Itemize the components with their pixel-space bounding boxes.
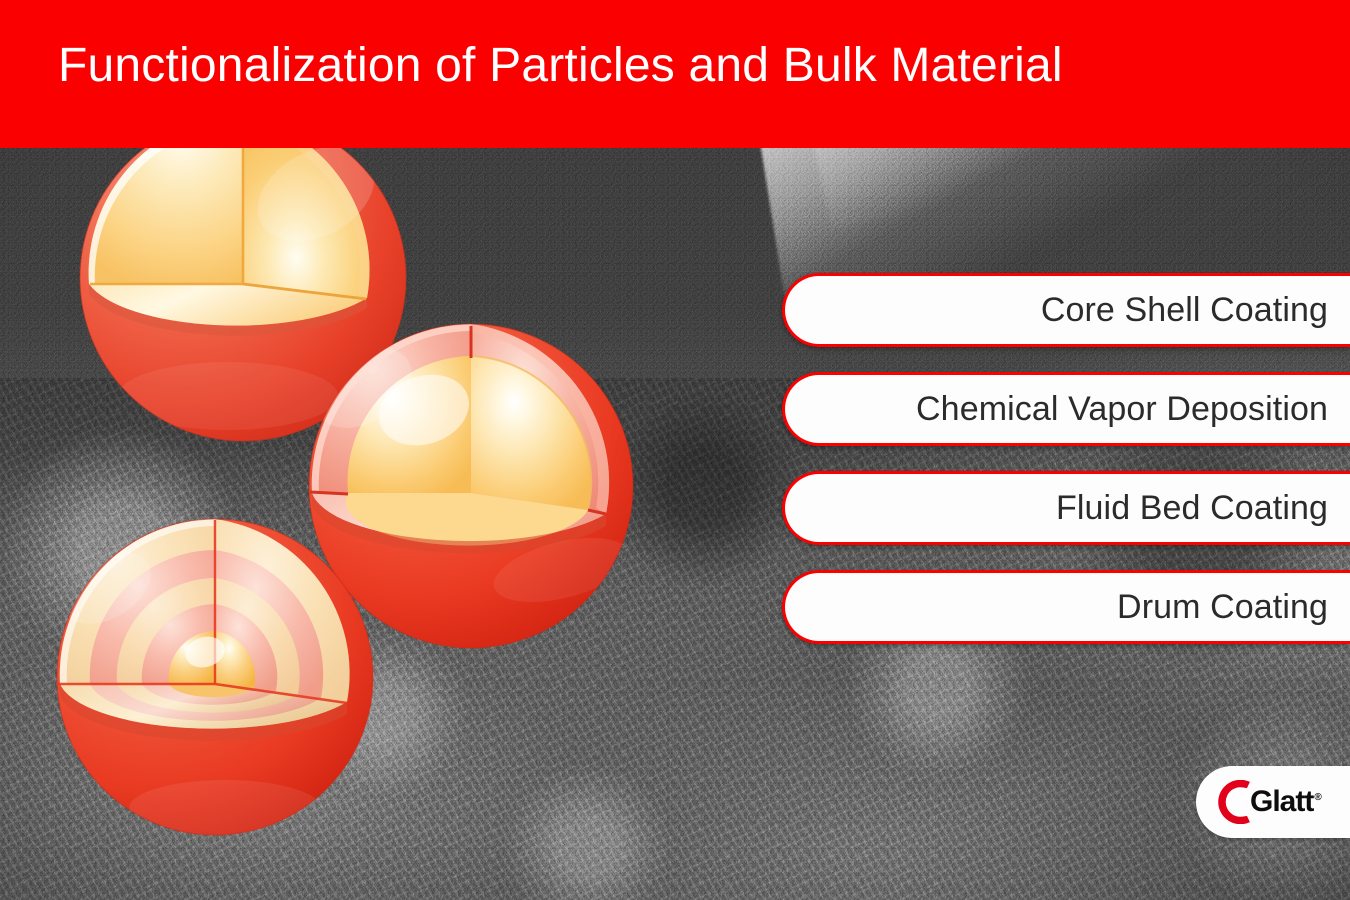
- header-banner: Functionalization of Particles and Bulk …: [0, 0, 1350, 148]
- label-core-shell-coating[interactable]: Core Shell Coating: [782, 273, 1350, 347]
- label-fluid-bed-coating[interactable]: Fluid Bed Coating: [782, 471, 1350, 545]
- label-text: Fluid Bed Coating: [1056, 489, 1350, 528]
- label-text: Chemical Vapor Deposition: [916, 390, 1350, 429]
- registered-trademark-symbol: ®: [1314, 792, 1320, 803]
- glatt-wordmark: Glatt®: [1250, 787, 1321, 817]
- label-text: Core Shell Coating: [1041, 291, 1350, 330]
- glatt-word-text: Glatt: [1250, 785, 1313, 818]
- sphere-multilayer-particle: [55, 512, 375, 842]
- label-drum-coating[interactable]: Drum Coating: [782, 570, 1350, 644]
- glatt-logo[interactable]: Glatt®: [1196, 766, 1350, 838]
- infographic-canvas: Functionalization of Particles and Bulk …: [0, 0, 1350, 900]
- label-text: Drum Coating: [1117, 588, 1350, 627]
- label-chemical-vapor-deposition[interactable]: Chemical Vapor Deposition: [782, 372, 1350, 446]
- method-label-list: Core Shell Coating Chemical Vapor Deposi…: [782, 273, 1350, 644]
- page-title: Functionalization of Particles and Bulk …: [58, 38, 1063, 93]
